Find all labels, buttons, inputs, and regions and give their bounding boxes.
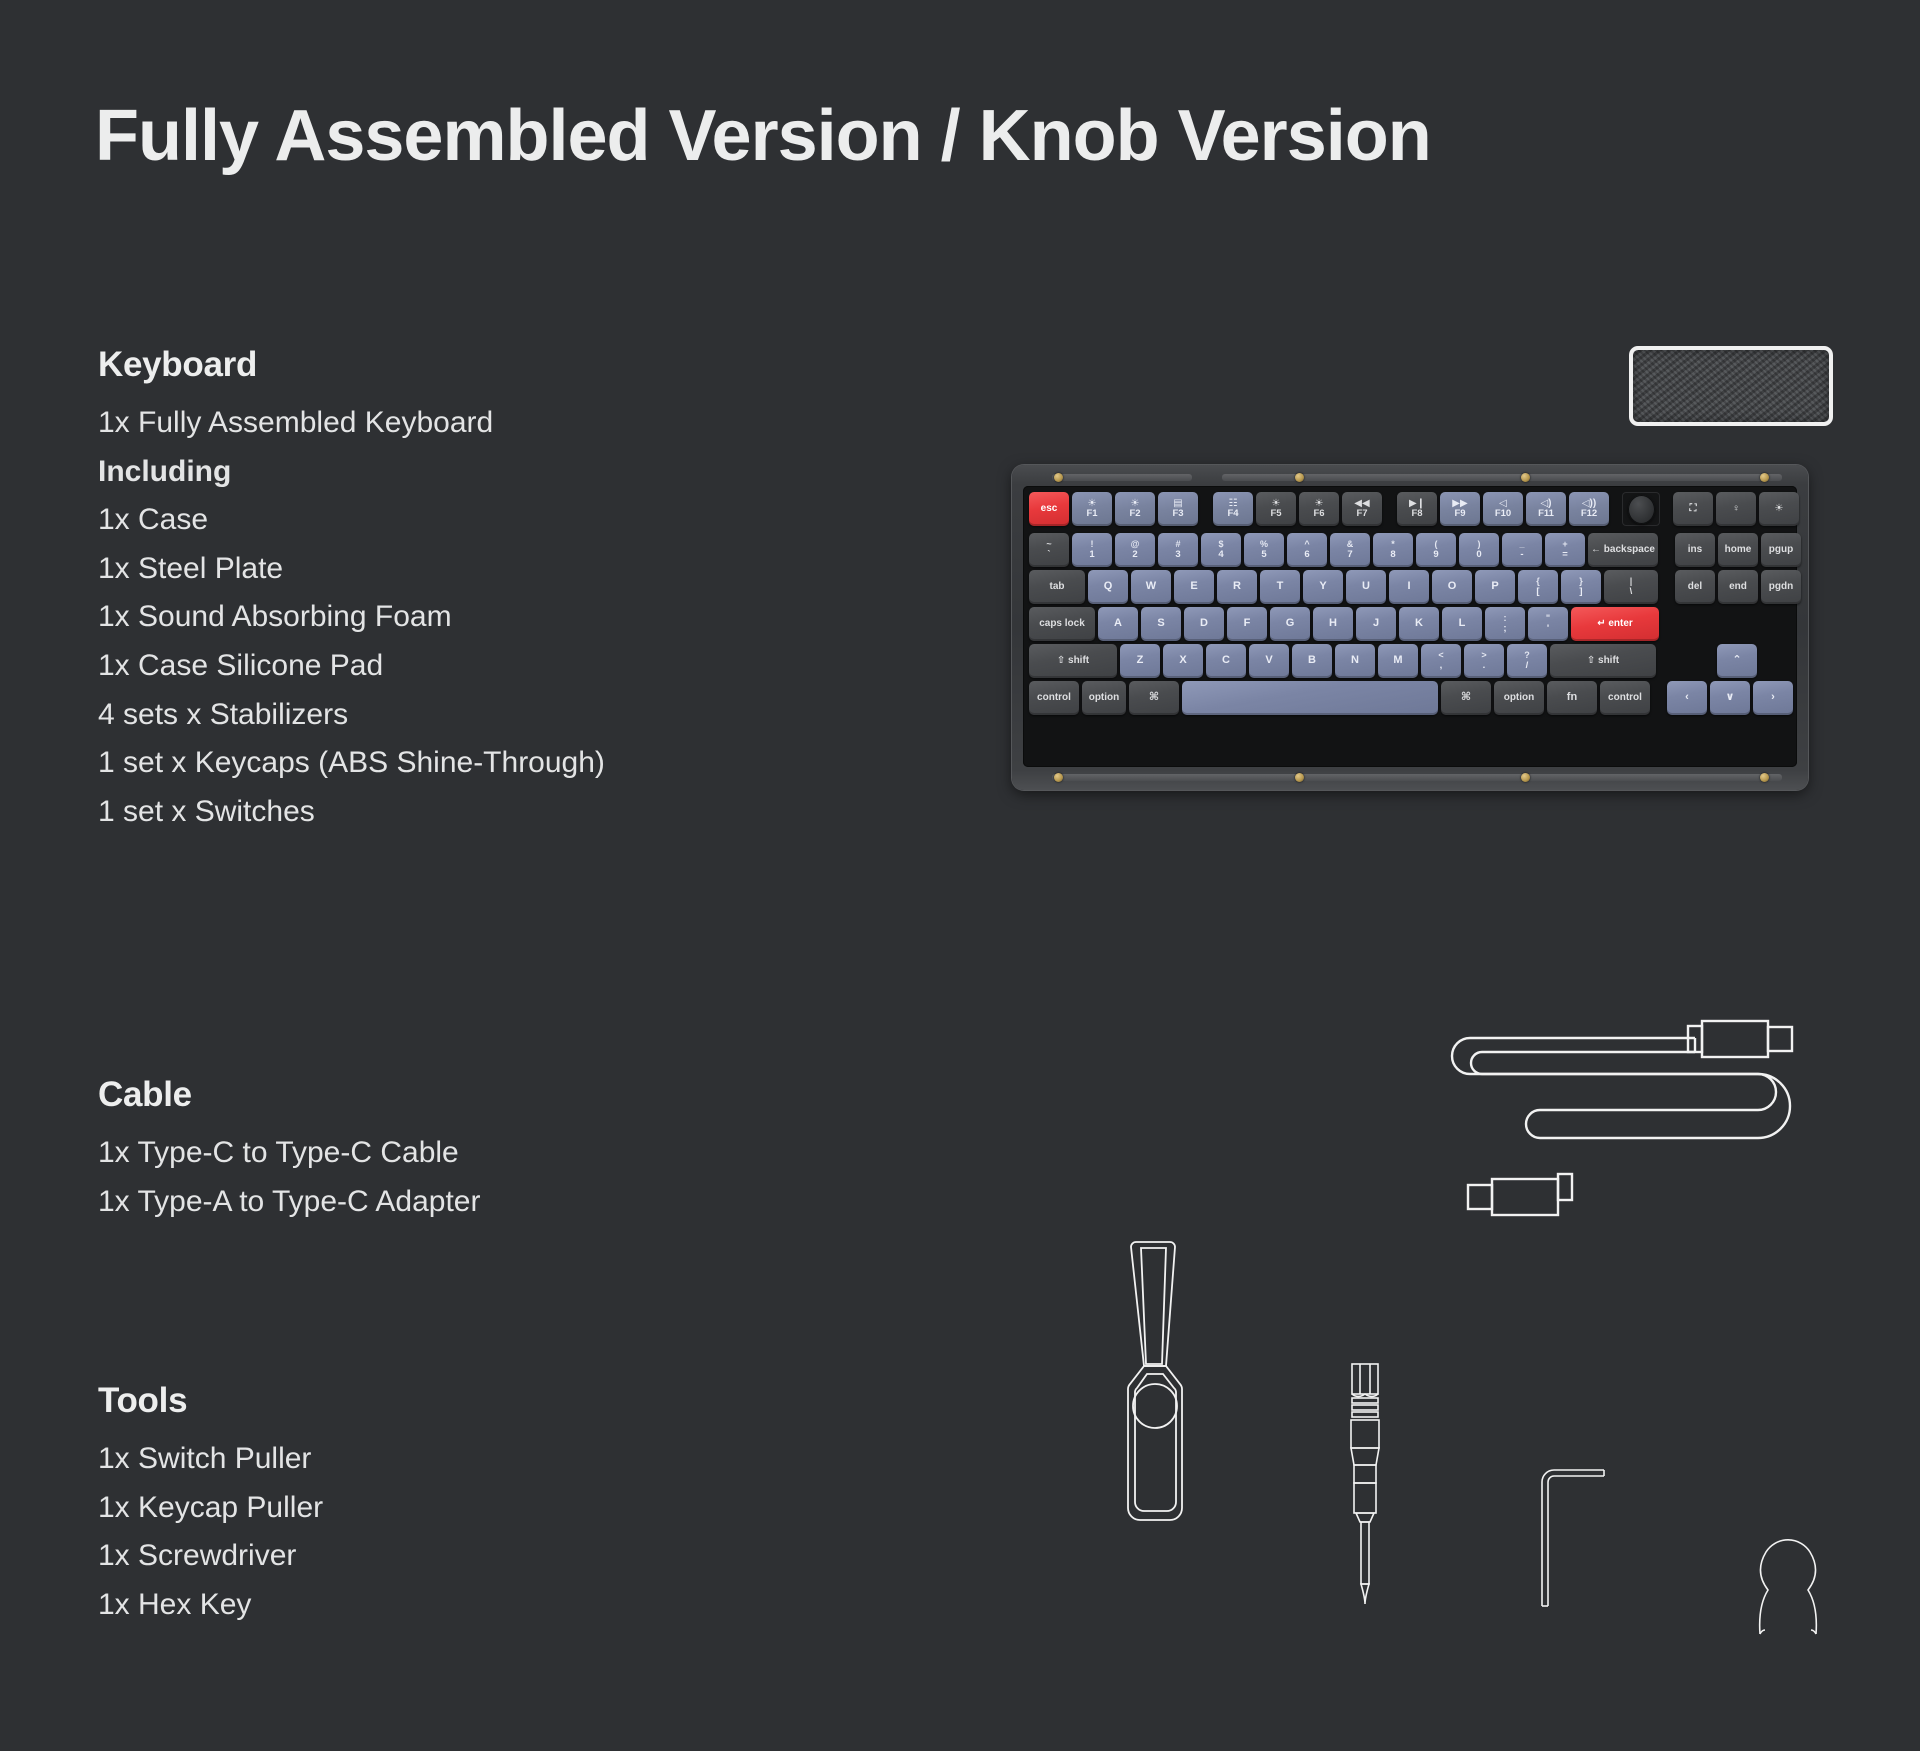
key-esc[interactable]: esc [1029,492,1069,526]
key-legend: F5 [1270,509,1281,519]
key-[interactable]: }] [1561,570,1601,604]
key-backspace[interactable]: ← backspace [1588,533,1658,567]
keyboard-row-bottom-row: controloption⌘⌘optionfncontrol‹∨› [1029,681,1796,715]
section-heading-cable: Cable [98,1075,480,1115]
key-legend-top: * [1391,540,1395,549]
list-item: 1x Switch Puller [98,1435,323,1484]
knob-cap [1628,495,1655,524]
key-q[interactable]: Q [1088,570,1128,604]
key-legend: F1 [1086,509,1097,519]
key-8[interactable]: *8 [1373,533,1413,567]
key-legend: F11 [1538,509,1554,519]
key-legend: H [1329,618,1337,630]
key-legend: F12 [1581,509,1597,519]
key-6[interactable]: ^6 [1287,533,1327,567]
key-legend-top: > [1481,651,1486,660]
key-legend: R [1233,581,1241,593]
key-home[interactable]: home [1718,533,1758,567]
key-z[interactable]: Z [1120,644,1160,678]
list-item: 1x Case [98,496,605,545]
key-legend-top: ? [1524,651,1530,660]
key-legend: N [1351,655,1359,667]
microphone-icon[interactable]: ♀ [1716,492,1756,526]
cable-illustration [1440,1018,1820,1238]
key-legend: del [1688,582,1702,593]
switch-puller-illustration [1118,1238,1228,1528]
key-legend-bottom: 5 [1261,550,1266,560]
volume-down-icon[interactable]: ◁)F11 [1526,492,1566,526]
key-[interactable]: ~` [1029,533,1069,567]
case-screw [1521,773,1530,782]
case-screw [1295,473,1304,482]
keyboard-row-number-row: ~`!1@2#3$4%5^6&7*8(9)0_-+=← backspaceins… [1029,533,1804,567]
key-legend-bottom: 6 [1304,550,1309,560]
key-legend: control [1037,693,1071,704]
key-legend-bottom: \ [1630,587,1633,597]
product-contents-page: Fully Assembled Version / Knob Version K… [0,0,1920,1751]
key-legend-bottom: 0 [1476,550,1481,560]
section-tools: Tools 1x Switch Puller 1x Keycap Puller … [98,1381,323,1629]
key-2[interactable]: @2 [1115,533,1155,567]
key-legend-bottom: ; [1503,624,1506,634]
key-legend-bottom: - [1520,550,1523,560]
key-b[interactable]: B [1292,644,1332,678]
key-legend: Q [1104,581,1113,593]
list-item: 4 sets x Stabilizers [98,691,605,740]
key-legend-top: { [1536,577,1540,586]
key-del[interactable]: del [1675,570,1715,604]
key-legend: U [1362,581,1370,593]
key-legend-top: < [1438,651,1443,660]
key-legend-bottom: , [1440,661,1443,671]
key-control[interactable]: control [1029,681,1079,715]
key-[interactable]: "' [1528,607,1568,641]
key-legend: P [1491,581,1498,593]
key-legend-bottom: 2 [1132,550,1137,560]
key-4[interactable]: $4 [1201,533,1241,567]
key-legend-top: ) [1478,540,1481,549]
key-r[interactable]: R [1217,570,1257,604]
key-legend-bottom: / [1526,661,1529,671]
key-legend: F4 [1227,509,1238,519]
key-a[interactable]: A [1098,607,1138,641]
key-[interactable]: ‹ [1667,681,1707,715]
key-legend-top: | [1630,577,1633,586]
key-u[interactable]: U [1346,570,1386,604]
key-legend: ‹ [1685,692,1689,704]
key-t[interactable]: T [1260,570,1300,604]
keyboard-backlight-up-icon[interactable]: ☀F6 [1299,492,1339,526]
siri-light-icon[interactable]: ☀ [1759,492,1799,526]
key-fn[interactable]: fn [1547,681,1597,715]
list-item: 1x Sound Absorbing Foam [98,593,605,642]
siri-light-icon: ☀ [1775,504,1784,514]
page-title: Fully Assembled Version / Knob Version [95,95,1431,177]
key-tab[interactable]: tab [1029,570,1085,604]
key-x[interactable]: X [1163,644,1203,678]
key-legend: W [1146,581,1156,593]
key-legend: C [1222,655,1230,667]
screenshot-icon: ⛶ [1690,504,1697,514]
key-control[interactable]: control [1600,681,1650,715]
key-legend: tab [1050,582,1065,593]
key-7[interactable]: &7 [1330,533,1370,567]
key-enter[interactable]: ↵ enter [1571,607,1659,641]
key-legend: ∨ [1726,692,1735,704]
key-legend-top: : [1504,614,1507,623]
key-legend-top: } [1579,577,1583,586]
case-screw [1760,773,1769,782]
list-item: 1x Steel Plate [98,545,605,594]
key-legend: B [1308,655,1316,667]
key-legend: ↵ enter [1597,619,1633,630]
key-legend-bottom: 9 [1433,550,1438,560]
list-item: 1x Hex Key [98,1581,323,1630]
fast-forward-icon[interactable]: ▶▶F9 [1440,492,1480,526]
key-legend: option [1504,693,1535,704]
list-item: 1x Type-A to Type-C Adapter [98,1178,480,1227]
spacebar[interactable] [1182,681,1438,715]
key-legend: ⌘ [1149,692,1159,704]
key-legend-top: ! [1091,540,1094,549]
key-end[interactable]: end [1718,570,1758,604]
key-o[interactable]: O [1432,570,1472,604]
key-[interactable]: _- [1502,533,1542,567]
key-legend: F7 [1356,509,1367,519]
key-pgup[interactable]: pgup [1761,533,1801,567]
key-[interactable]: ?/ [1507,644,1547,678]
key-legend-top: @ [1131,540,1140,549]
case-screw [1521,473,1530,482]
key-legend-top: ~ [1046,540,1051,549]
brightness-high-icon[interactable]: ☀F2 [1115,492,1155,526]
key-legend-top: ^ [1304,540,1309,549]
list-item: 1x Case Silicone Pad [98,642,605,691]
case-rail [1052,774,1782,781]
key-legend: F9 [1454,509,1465,519]
key-legend: esc [1041,504,1058,515]
key-legend: option [1089,693,1120,704]
keyboard-backlight-down-icon[interactable]: ☀F5 [1256,492,1296,526]
key-legend-bottom: 1 [1089,550,1094,560]
key-legend: fn [1567,692,1577,704]
key-legend: I [1407,581,1410,593]
key-[interactable]: ⌃ [1717,644,1757,678]
keyboard-plate: esc☀F1☀F2▤F3☷F4☀F5☀F6◀◀F7▶❙F8▶▶F9◁F10◁)F… [1023,486,1797,767]
section-heading-keyboard: Keyboard [98,345,605,385]
key-y[interactable]: Y [1303,570,1343,604]
key-legend: L [1459,618,1466,630]
list-item: 1x Fully Assembled Keyboard [98,399,605,448]
volume-up-icon[interactable]: ◁))F12 [1569,492,1609,526]
key-j[interactable]: J [1356,607,1396,641]
key-h[interactable]: H [1313,607,1353,641]
key-legend-bottom: 7 [1347,550,1352,560]
screenshot-icon[interactable]: ⛶ [1673,492,1713,526]
key-legend: F2 [1129,509,1140,519]
keyboard-row-shift-row: ⇧ shiftZXCVBNM<,>.?/⇧ shift⌃ [1029,644,1760,678]
key-legend: F3 [1172,509,1183,519]
key-[interactable]: >. [1464,644,1504,678]
key-legend: A [1114,618,1122,630]
rewind-icon[interactable]: ◀◀F7 [1342,492,1382,526]
key-legend: V [1265,655,1272,667]
key-[interactable]: <, [1421,644,1461,678]
key-legend: F6 [1313,509,1324,519]
list-item: 1x Type-C to Type-C Cable [98,1129,480,1178]
key-m[interactable]: M [1378,644,1418,678]
key-pgdn[interactable]: pgdn [1761,570,1801,604]
section-heading-tools: Tools [98,1381,323,1421]
key-c[interactable]: C [1206,644,1246,678]
key-shift[interactable]: ⇧ shift [1550,644,1656,678]
key-[interactable]: › [1753,681,1793,715]
key-n[interactable]: N [1335,644,1375,678]
key-legend-bottom: 8 [1390,550,1395,560]
case-screw [1054,473,1063,482]
list-item: 1x Screwdriver [98,1532,323,1581]
key-3[interactable]: #3 [1158,533,1198,567]
key-[interactable]: ∨ [1710,681,1750,715]
keycap-puller-illustration [1748,1528,1828,1638]
key-legend-bottom: ' [1547,624,1549,634]
key-legend-top: % [1260,540,1268,549]
key-legend: F10 [1495,509,1511,519]
case-screw [1054,773,1063,782]
key-legend-bottom: 4 [1218,550,1223,560]
key-legend: pgup [1769,545,1793,556]
key-legend-bottom: [ [1536,587,1539,597]
key-9[interactable]: (9 [1416,533,1456,567]
key-legend: ⇧ shift [1587,656,1619,667]
key-legend-bottom: ] [1579,587,1582,597]
key-i[interactable]: I [1389,570,1429,604]
list-item: 1 set x Switches [98,788,605,837]
key-option[interactable]: option [1494,681,1544,715]
screwdriver-illustration [1330,1360,1400,1610]
key-d[interactable]: D [1184,607,1224,641]
key-legend: D [1200,618,1208,630]
key-legend: ins [1688,545,1702,556]
key-legend: M [1393,655,1402,667]
list-item: 1x Keycap Puller [98,1484,323,1533]
key-legend: home [1725,545,1752,556]
key-legend: ← backspace [1591,545,1655,556]
key-legend: F8 [1411,509,1422,519]
key-legend-top: $ [1218,540,1223,549]
play-pause-icon[interactable]: ▶❙F8 [1397,492,1437,526]
key-[interactable]: ⌘ [1441,681,1491,715]
key-legend: control [1608,693,1642,704]
key-[interactable]: += [1545,533,1585,567]
case-silicone-pad-illustration [1629,346,1833,426]
key-f[interactable]: F [1227,607,1267,641]
section-cable: Cable 1x Type-C to Type-C Cable 1x Type-… [98,1075,480,1226]
key-s[interactable]: S [1141,607,1181,641]
key-l[interactable]: L [1442,607,1482,641]
key-legend: › [1771,692,1775,704]
launchpad-icon[interactable]: ☷F4 [1213,492,1253,526]
key-legend-top: + [1562,540,1567,549]
key-legend-bottom: 3 [1175,550,1180,560]
key-legend: O [1448,581,1457,593]
key-legend: ⌃ [1732,655,1741,667]
key-0[interactable]: )0 [1459,533,1499,567]
key-legend: K [1415,618,1423,630]
key-legend-top: # [1175,540,1180,549]
case-screw [1760,473,1769,482]
key-legend-bottom: . [1483,661,1486,671]
key-[interactable]: :; [1485,607,1525,641]
rotary-knob[interactable] [1622,492,1660,526]
key-option[interactable]: option [1082,681,1126,715]
key-caps-lock[interactable]: caps lock [1029,607,1095,641]
key-legend: F [1244,618,1251,630]
key-legend: S [1157,618,1164,630]
list-item: 1 set x Keycaps (ABS Shine-Through) [98,739,605,788]
mission-control-icon[interactable]: ▤F3 [1158,492,1198,526]
key-g[interactable]: G [1270,607,1310,641]
key-legend-top: _ [1519,540,1524,549]
mute-icon[interactable]: ◁F10 [1483,492,1523,526]
key-legend-top: ( [1435,540,1438,549]
key-legend: T [1277,581,1284,593]
key-p[interactable]: P [1475,570,1515,604]
key-legend: ⌘ [1461,692,1471,704]
key-[interactable]: {[ [1518,570,1558,604]
key-1[interactable]: !1 [1072,533,1112,567]
brightness-low-icon[interactable]: ☀F1 [1072,492,1112,526]
key-legend-bottom: = [1562,550,1568,560]
key-legend: pgdn [1769,582,1793,593]
keyboard-row-function-row: esc☀F1☀F2▤F3☷F4☀F5☀F6◀◀F7▶❙F8▶▶F9◁F10◁)F… [1029,492,1802,526]
hex-key-illustration [1540,1440,1620,1610]
key-[interactable]: ⌘ [1129,681,1179,715]
key-legend: E [1190,581,1197,593]
key-legend: Y [1319,581,1326,593]
key-w[interactable]: W [1131,570,1171,604]
case-rail [1052,474,1192,481]
key-5[interactable]: %5 [1244,533,1284,567]
key-legend: end [1729,582,1747,593]
key-shift[interactable]: ⇧ shift [1029,644,1117,678]
key-legend: Z [1137,655,1144,667]
key-legend-top: " [1546,614,1550,623]
key-[interactable]: |\ [1604,570,1658,604]
key-v[interactable]: V [1249,644,1289,678]
key-legend-bottom: ` [1047,550,1050,560]
key-legend: ⇧ shift [1057,656,1089,667]
case-screw [1295,773,1304,782]
key-legend-top: & [1347,540,1354,549]
section-keyboard: Keyboard 1x Fully Assembled Keyboard Inc… [98,345,605,836]
keyboard-row-qwerty-row: tabQWERTYUIOP{[}]|\delendpgdn [1029,570,1804,604]
key-ins[interactable]: ins [1675,533,1715,567]
key-k[interactable]: K [1399,607,1439,641]
key-legend: G [1286,618,1295,630]
key-e[interactable]: E [1174,570,1214,604]
list-item: Including [98,448,605,497]
microphone-icon: ♀ [1732,504,1740,514]
case-rail [1222,474,1782,481]
keyboard-row-home-row: caps lockASDFGHJKL:;"'↵ enter [1029,607,1662,641]
key-legend: X [1179,655,1186,667]
key-legend: caps lock [1039,619,1085,630]
keyboard-illustration: esc☀F1☀F2▤F3☷F4☀F5☀F6◀◀F7▶❙F8▶▶F9◁F10◁)F… [1012,465,1808,790]
key-legend: J [1373,618,1379,630]
